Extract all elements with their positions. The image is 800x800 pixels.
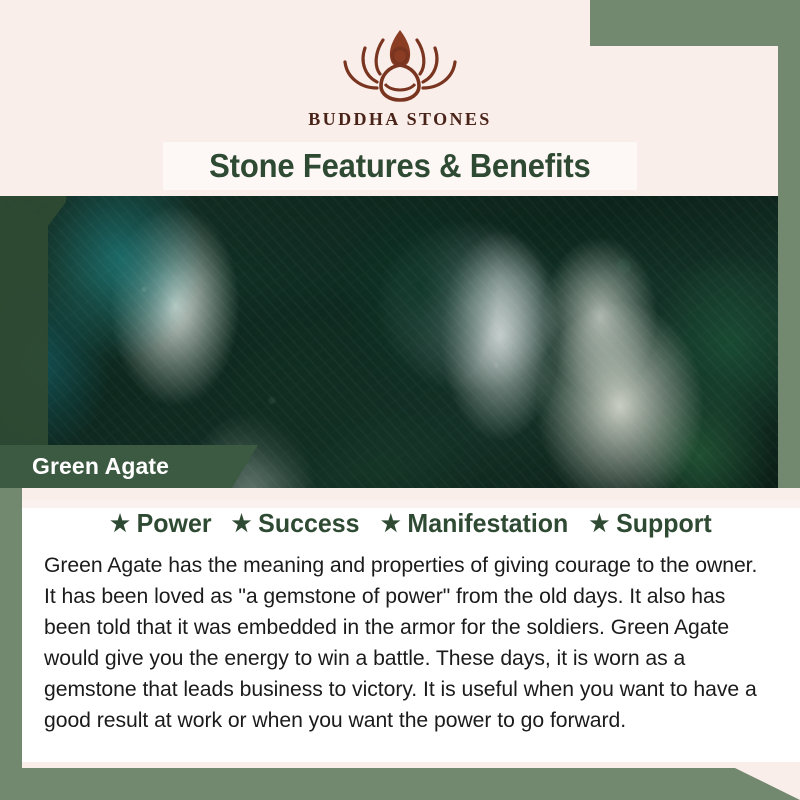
keyword-label: Support <box>616 508 712 539</box>
brand-name: BUDDHA STONES <box>308 109 491 130</box>
star-icon: ★ <box>589 512 609 535</box>
stone-details-section: ★ Power ★ Success ★ Manifestation ★ Supp… <box>0 488 800 800</box>
keyword-item-support: ★ Support <box>589 508 711 539</box>
keyword-label: Success <box>258 508 359 539</box>
left-edge-band <box>0 488 22 768</box>
bottom-accent-band <box>0 768 800 800</box>
stone-description: Green Agate has the meaning and properti… <box>44 550 773 736</box>
keyword-item-manifestation: ★ Manifestation <box>381 508 568 539</box>
page-title-box: Stone Features & Benefits <box>163 142 637 190</box>
keyword-label: Manifestation <box>407 508 568 539</box>
stone-photo-shade-overlay <box>0 196 800 488</box>
star-icon: ★ <box>381 512 401 535</box>
stone-name-label: Green Agate <box>32 453 169 480</box>
star-icon: ★ <box>231 512 251 535</box>
star-icon: ★ <box>110 512 130 535</box>
stone-name-banner: Green Agate <box>0 445 258 488</box>
brand-header-section: BUDDHA STONES Stone Features & Benefits <box>0 0 800 196</box>
lotus-meditation-icon <box>325 22 475 106</box>
page-title: Stone Features & Benefits <box>209 147 590 185</box>
keyword-list: ★ Power ★ Success ★ Manifestation ★ Supp… <box>22 502 800 544</box>
photo-right-edge-band <box>778 196 800 488</box>
brand-logo: BUDDHA STONES <box>0 22 800 130</box>
keyword-label: Power <box>136 508 211 539</box>
keyword-item-success: ★ Success <box>231 508 359 539</box>
keyword-item-power: ★ Power <box>110 508 211 539</box>
stone-photo-band: Green Agate <box>0 196 800 488</box>
